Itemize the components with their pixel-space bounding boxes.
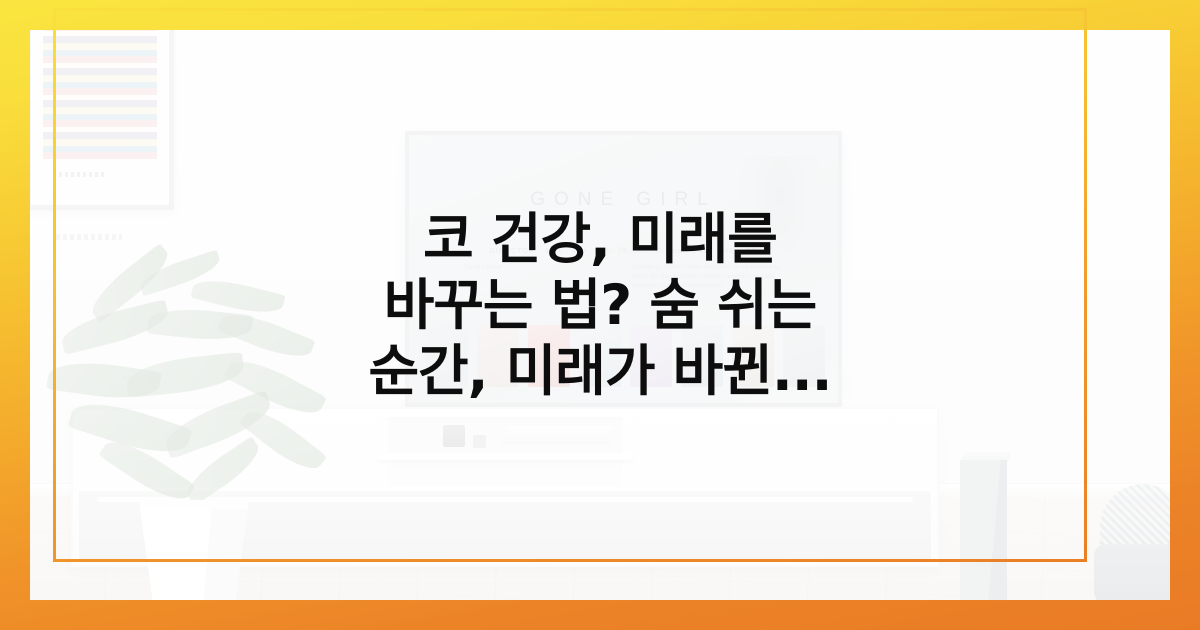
poster-thumbnail: [426, 325, 468, 387]
floor-speaker: [960, 460, 1007, 600]
console-device: [443, 425, 465, 447]
background-photo: GONE GIRL DIRECTOR · 88% · 17+ · 2 hr 29…: [30, 30, 1170, 600]
wall-art-caption: [30, 212, 174, 248]
console-tray: [500, 425, 616, 445]
poster-thumbnail: [528, 325, 570, 387]
poster-thumbnail: [630, 325, 672, 387]
tv-poster-row: [426, 325, 825, 387]
television: GONE GIRL DIRECTOR · 88% · 17+ · 2 hr 29…: [405, 131, 842, 407]
potted-plant: [52, 260, 342, 600]
poster-thumbnail: [732, 325, 774, 387]
console-small-device: [473, 435, 486, 448]
tv-description: Directed by David Fincher and based on t…: [632, 264, 795, 292]
photo-stage: GONE GIRL DIRECTOR · 88% · 17+ · 2 hr 29…: [30, 30, 1170, 600]
tv-director: David Fincher: [465, 264, 502, 274]
wall-art-stripes: [43, 30, 157, 159]
wall-art-caption-line: [56, 234, 122, 240]
console-shelf: [378, 453, 633, 460]
poster-thumbnail: [681, 325, 723, 387]
wall-art-frame: [30, 30, 174, 210]
tv-title: GONE GIRL: [409, 189, 838, 211]
wall-art-signature: [53, 172, 105, 177]
tv-metadata: DIRECTOR · 88% · 17+ · 2 hr 29 min · Dra…: [409, 248, 838, 255]
poster-thumbnail: [783, 325, 825, 387]
tv-screen: GONE GIRL DIRECTOR · 88% · 17+ · 2 hr 29…: [409, 135, 838, 403]
poster-thumbnail: [477, 325, 519, 387]
plant-pot: [130, 500, 258, 600]
accent-chair-seat: [1094, 544, 1170, 600]
thumbnail-card: GONE GIRL DIRECTOR · 88% · 17+ · 2 hr 29…: [0, 0, 1200, 630]
poster-thumbnail: [579, 325, 621, 387]
